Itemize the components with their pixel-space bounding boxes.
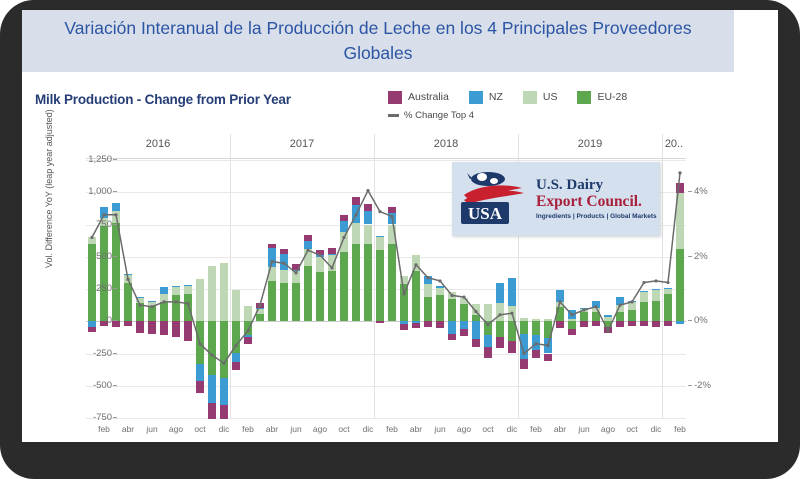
bar-segment bbox=[208, 403, 216, 419]
bar-segment bbox=[124, 275, 132, 283]
bar-segment bbox=[472, 339, 480, 347]
bar-segment bbox=[460, 329, 468, 336]
bar-segment bbox=[124, 321, 132, 326]
bar-segment bbox=[592, 308, 600, 312]
x-axis-tick: jun bbox=[139, 424, 165, 434]
bar-segment bbox=[604, 327, 612, 333]
bar-segment bbox=[328, 255, 336, 270]
bar-segment bbox=[364, 204, 372, 211]
y-axis-tick: -250 bbox=[52, 348, 112, 359]
bar-segment bbox=[340, 232, 348, 251]
slide-title-band: Variación Interanual de la Producción de… bbox=[22, 10, 734, 72]
y2-axis-tick: -2% bbox=[694, 380, 734, 391]
bar-segment bbox=[148, 321, 156, 334]
bar-segment bbox=[556, 302, 564, 307]
x-axis-tick: feb bbox=[667, 424, 693, 434]
x-axis-tick: oct bbox=[475, 424, 501, 434]
legend-item-australia[interactable]: Australia bbox=[388, 91, 449, 104]
bar-segment bbox=[448, 334, 456, 340]
x-axis-tick: abr bbox=[259, 424, 285, 434]
bar-stack[interactable] bbox=[184, 160, 192, 418]
bar-segment bbox=[652, 321, 660, 327]
bar-segment bbox=[628, 301, 636, 302]
bar-segment bbox=[544, 319, 552, 322]
bar-segment bbox=[628, 321, 636, 326]
bar-stack[interactable] bbox=[412, 160, 420, 418]
bar-stack[interactable] bbox=[340, 160, 348, 418]
bar-segment bbox=[520, 321, 528, 334]
bar-segment bbox=[532, 350, 540, 358]
bar-segment bbox=[160, 294, 168, 302]
legend-item-us[interactable]: US bbox=[523, 91, 558, 104]
bar-segment bbox=[580, 321, 588, 327]
bar-segment bbox=[196, 321, 204, 364]
bar-stack[interactable] bbox=[676, 160, 684, 418]
bar-stack[interactable] bbox=[424, 160, 432, 418]
legend-item-nz[interactable]: NZ bbox=[469, 91, 503, 104]
bar-segment bbox=[400, 276, 408, 284]
bar-segment bbox=[436, 321, 444, 327]
bar-segment bbox=[592, 301, 600, 307]
bar-segment bbox=[628, 301, 636, 309]
x-axis-tick: jun bbox=[427, 424, 453, 434]
bar-stack[interactable] bbox=[148, 160, 156, 418]
bar-segment bbox=[316, 255, 324, 256]
bar-segment bbox=[256, 314, 264, 321]
device-frame: Variación Interanual de la Producción de… bbox=[0, 0, 800, 479]
y-axis-tick: 250 bbox=[52, 283, 112, 294]
bar-segment bbox=[184, 285, 192, 286]
bar-segment bbox=[532, 335, 540, 349]
bar-segment bbox=[124, 283, 132, 322]
x-axis-tick: feb bbox=[379, 424, 405, 434]
bar-stack[interactable] bbox=[124, 160, 132, 418]
x-axis-tick: ago bbox=[163, 424, 189, 434]
bar-segment bbox=[304, 241, 312, 249]
bar-segment bbox=[376, 321, 384, 322]
x-axis-tick: feb bbox=[523, 424, 549, 434]
bar-segment bbox=[352, 197, 360, 204]
bar-segment bbox=[460, 304, 468, 321]
bar-segment bbox=[160, 287, 168, 294]
bar-segment bbox=[172, 321, 180, 336]
bar-segment bbox=[532, 319, 540, 321]
bar-segment bbox=[544, 338, 552, 353]
bar-stack[interactable] bbox=[112, 160, 120, 418]
legend-swatch-us bbox=[523, 91, 537, 104]
bar-segment bbox=[148, 301, 156, 302]
bar-segment bbox=[100, 226, 108, 321]
usdec-logo: USA U.S. Dairy Export Council. Ingredien… bbox=[452, 162, 660, 236]
bar-segment bbox=[388, 207, 396, 213]
bar-segment bbox=[88, 237, 96, 244]
bar-stack[interactable] bbox=[280, 160, 288, 418]
bar-segment bbox=[436, 286, 444, 287]
bar-segment bbox=[232, 362, 240, 370]
bar-segment bbox=[520, 359, 528, 369]
bar-segment bbox=[232, 321, 240, 353]
bar-segment bbox=[220, 321, 228, 378]
x-axis-tick: oct bbox=[331, 424, 357, 434]
bar-segment bbox=[616, 321, 624, 327]
bar-segment bbox=[256, 308, 264, 314]
bar-stack[interactable] bbox=[664, 160, 672, 418]
x-axis-tick: abr bbox=[547, 424, 573, 434]
x-axis-tick: oct bbox=[619, 424, 645, 434]
bar-segment bbox=[280, 254, 288, 270]
bar-segment bbox=[616, 297, 624, 305]
bar-segment bbox=[472, 321, 480, 339]
bar-stack[interactable] bbox=[160, 160, 168, 418]
bar-stack[interactable] bbox=[352, 160, 360, 418]
x-axis-tick: feb bbox=[235, 424, 261, 434]
x-axis-tick: ago bbox=[595, 424, 621, 434]
bar-segment bbox=[664, 294, 672, 322]
bar-segment bbox=[604, 315, 612, 316]
bar-segment bbox=[628, 310, 636, 322]
bar-stack[interactable] bbox=[436, 160, 444, 418]
bar-segment bbox=[232, 353, 240, 362]
year-label: 2019 bbox=[518, 138, 662, 150]
bar-segment bbox=[364, 225, 372, 244]
bar-segment bbox=[376, 237, 384, 251]
bar-segment bbox=[436, 288, 444, 296]
bar-segment bbox=[112, 223, 120, 321]
bar-segment bbox=[508, 278, 516, 306]
bar-stack[interactable] bbox=[328, 160, 336, 418]
bar-segment bbox=[556, 321, 564, 327]
bar-segment bbox=[568, 319, 576, 321]
bar-segment bbox=[580, 312, 588, 321]
legend-item-eu28[interactable]: EU-28 bbox=[577, 91, 627, 104]
bar-segment bbox=[244, 337, 252, 344]
x-axis-tick: abr bbox=[115, 424, 141, 434]
bar-segment bbox=[484, 347, 492, 358]
bar-segment bbox=[304, 249, 312, 266]
bar-segment bbox=[220, 405, 228, 419]
bar-stack[interactable] bbox=[196, 160, 204, 418]
bar-segment bbox=[280, 270, 288, 282]
bar-segment bbox=[664, 288, 672, 293]
bar-segment bbox=[676, 321, 684, 324]
bar-segment bbox=[460, 298, 468, 304]
bar-segment bbox=[424, 284, 432, 298]
bar-segment bbox=[364, 211, 372, 225]
x-axis-tick: dic bbox=[355, 424, 381, 434]
chart-legend: Australia NZ US EU-28 bbox=[388, 88, 718, 106]
bar-segment bbox=[340, 252, 348, 322]
bar-stack[interactable] bbox=[136, 160, 144, 418]
bar-segment bbox=[616, 312, 624, 321]
bar-segment bbox=[220, 263, 228, 321]
bar-segment bbox=[496, 321, 504, 336]
legend-label-eu28: EU-28 bbox=[597, 91, 627, 103]
bar-segment bbox=[136, 303, 144, 321]
y-axis-tick: 750 bbox=[52, 219, 112, 230]
bar-segment bbox=[148, 306, 156, 321]
bar-segment bbox=[352, 205, 360, 223]
bar-segment bbox=[676, 249, 684, 321]
bar-segment bbox=[376, 236, 384, 237]
bar-stack[interactable] bbox=[244, 160, 252, 418]
bar-segment bbox=[484, 335, 492, 347]
bar-segment bbox=[196, 364, 204, 381]
y2-axis-tick: 2% bbox=[694, 251, 734, 262]
logo-text-block: U.S. Dairy Export Council. Ingredients |… bbox=[536, 178, 657, 221]
legend-item-pct-change[interactable]: % Change Top 4 bbox=[388, 110, 474, 121]
bar-segment bbox=[640, 291, 648, 292]
y-axis-tick: 1,250 bbox=[52, 154, 112, 165]
bar-segment bbox=[400, 284, 408, 321]
bar-segment bbox=[280, 249, 288, 254]
bar-segment bbox=[136, 297, 144, 298]
bar-segment bbox=[496, 303, 504, 321]
bar-segment bbox=[148, 302, 156, 306]
bar-segment bbox=[652, 290, 660, 301]
bar-segment bbox=[436, 295, 444, 321]
bar-stack[interactable] bbox=[376, 160, 384, 418]
year-label: 2016 bbox=[86, 138, 230, 150]
bar-segment bbox=[136, 321, 144, 333]
bar-stack[interactable] bbox=[388, 160, 396, 418]
bar-segment bbox=[532, 321, 540, 335]
bar-segment bbox=[268, 267, 276, 281]
bar-stack[interactable] bbox=[256, 160, 264, 418]
bar-segment bbox=[316, 250, 324, 256]
bar-segment bbox=[88, 327, 96, 332]
y-axis-tick: -750 bbox=[52, 412, 112, 423]
x-axis-tick: dic bbox=[499, 424, 525, 434]
bar-segment bbox=[208, 266, 216, 321]
bar-segment bbox=[520, 334, 528, 359]
y2-axis-tick: 4% bbox=[694, 186, 734, 197]
bar-segment bbox=[568, 321, 576, 329]
bar-segment bbox=[376, 250, 384, 321]
bar-segment bbox=[424, 321, 432, 327]
bar-segment bbox=[184, 286, 192, 294]
bar-segment bbox=[664, 321, 672, 326]
bar-segment bbox=[172, 286, 180, 287]
bar-segment bbox=[172, 286, 180, 295]
bar-segment bbox=[460, 321, 468, 329]
bar-segment bbox=[208, 375, 216, 403]
bar-segment bbox=[652, 301, 660, 322]
page-title: Variación Interanual de la Producción de… bbox=[33, 16, 723, 67]
bar-segment bbox=[160, 321, 168, 335]
bar-stack[interactable] bbox=[268, 160, 276, 418]
logo-line-2: Export Council. bbox=[536, 193, 657, 211]
bar-segment bbox=[616, 305, 624, 312]
bar-segment bbox=[304, 266, 312, 321]
bar-segment bbox=[400, 324, 408, 330]
x-axis-tick: dic bbox=[211, 424, 237, 434]
bar-segment bbox=[448, 299, 456, 321]
bar-segment bbox=[448, 321, 456, 333]
bar-segment bbox=[328, 271, 336, 321]
legend-label-australia: Australia bbox=[408, 91, 449, 103]
gridline bbox=[86, 418, 686, 419]
bar-segment bbox=[292, 270, 300, 271]
bar-segment bbox=[412, 271, 420, 321]
year-label: 20.. bbox=[662, 138, 686, 150]
bar-segment bbox=[184, 321, 192, 340]
bar-segment bbox=[484, 321, 492, 335]
svg-text:USA: USA bbox=[468, 204, 503, 223]
bar-stack[interactable] bbox=[232, 160, 240, 418]
bar-stack[interactable] bbox=[316, 160, 324, 418]
x-axis-tick: dic bbox=[643, 424, 669, 434]
bar-segment bbox=[244, 306, 252, 321]
bar-stack[interactable] bbox=[208, 160, 216, 418]
y-axis-tick: 500 bbox=[52, 251, 112, 262]
bar-segment bbox=[268, 244, 276, 249]
bar-segment bbox=[676, 193, 684, 249]
bar-segment bbox=[508, 321, 516, 340]
bar-segment bbox=[220, 378, 228, 405]
bar-segment bbox=[652, 289, 660, 290]
bar-segment bbox=[412, 255, 420, 270]
bar-segment bbox=[316, 272, 324, 321]
year-label: 2017 bbox=[230, 138, 374, 150]
legend-label-pct-change: % Change Top 4 bbox=[404, 110, 474, 121]
bar-segment bbox=[592, 312, 600, 322]
bar-stack[interactable] bbox=[172, 160, 180, 418]
bar-segment bbox=[232, 290, 240, 321]
bar-segment bbox=[292, 283, 300, 322]
bar-segment bbox=[544, 354, 552, 361]
x-axis-tick: ago bbox=[307, 424, 333, 434]
bar-segment bbox=[340, 215, 348, 221]
bar-segment bbox=[508, 306, 516, 321]
bar-segment bbox=[388, 213, 396, 225]
bar-segment bbox=[496, 283, 504, 304]
bar-segment bbox=[304, 235, 312, 241]
bar-segment bbox=[292, 264, 300, 269]
bar-segment bbox=[196, 279, 204, 322]
bar-segment bbox=[280, 283, 288, 322]
bar-segment bbox=[328, 248, 336, 254]
legend-swatch-australia bbox=[388, 91, 402, 104]
bar-segment bbox=[676, 183, 684, 193]
bar-segment bbox=[184, 294, 192, 322]
x-axis-tick: oct bbox=[187, 424, 213, 434]
bar-segment bbox=[484, 304, 492, 321]
bar-segment bbox=[352, 223, 360, 244]
bar-segment bbox=[496, 337, 504, 349]
bar-segment bbox=[112, 321, 120, 327]
bar-segment bbox=[328, 254, 336, 255]
bar-segment bbox=[544, 321, 552, 338]
bar-segment bbox=[568, 310, 576, 319]
chart-subtitle: Milk Production - Change from Prior Year bbox=[35, 92, 291, 107]
x-axis-tick: jun bbox=[571, 424, 597, 434]
legend-line-marker bbox=[388, 114, 399, 117]
bar-segment bbox=[508, 341, 516, 353]
bar-segment bbox=[388, 225, 396, 244]
bar-stack[interactable] bbox=[304, 160, 312, 418]
legend-swatch-eu28 bbox=[577, 91, 591, 104]
y2-axis-tick: 0% bbox=[694, 315, 734, 326]
bar-segment bbox=[256, 308, 264, 309]
bar-segment bbox=[352, 244, 360, 321]
bar-stack[interactable] bbox=[220, 160, 228, 418]
bar-segment bbox=[604, 317, 612, 322]
bar-segment bbox=[424, 297, 432, 321]
bar-segment bbox=[388, 244, 396, 321]
bar-segment bbox=[640, 292, 648, 302]
axis-top-rule bbox=[86, 158, 686, 159]
y-axis-tick: 0 bbox=[52, 315, 112, 326]
bar-segment bbox=[100, 207, 108, 218]
x-axis-tick: jun bbox=[283, 424, 309, 434]
bar-segment bbox=[160, 302, 168, 321]
usa-badge-icon: USA bbox=[458, 169, 532, 229]
bar-segment bbox=[136, 298, 144, 303]
legend-label-us: US bbox=[543, 91, 558, 103]
bar-segment bbox=[256, 303, 264, 308]
logo-tagline: Ingredients | Products | Global Markets bbox=[536, 213, 657, 220]
bar-segment bbox=[556, 290, 564, 302]
bar-segment bbox=[364, 244, 372, 321]
bar-segment bbox=[556, 307, 564, 321]
logo-line-1: U.S. Dairy bbox=[536, 178, 657, 193]
y-axis-tick: 1,000 bbox=[52, 186, 112, 197]
legend-label-nz: NZ bbox=[489, 91, 503, 103]
bar-segment bbox=[520, 318, 528, 321]
bar-segment bbox=[472, 304, 480, 315]
bar-segment bbox=[172, 295, 180, 321]
bar-segment bbox=[640, 302, 648, 321]
bar-segment bbox=[640, 321, 648, 326]
bar-segment bbox=[664, 288, 672, 289]
bar-segment bbox=[208, 321, 216, 375]
bar-segment bbox=[112, 211, 120, 223]
bar-segment bbox=[340, 221, 348, 232]
x-axis-tick: feb bbox=[91, 424, 117, 434]
bar-segment bbox=[424, 276, 432, 284]
bar-segment bbox=[196, 381, 204, 394]
bar-segment bbox=[124, 274, 132, 275]
bar-segment bbox=[268, 281, 276, 321]
year-label: 2018 bbox=[374, 138, 518, 150]
bar-segment bbox=[580, 308, 588, 309]
bar-stack[interactable] bbox=[400, 160, 408, 418]
bar-stack[interactable] bbox=[292, 160, 300, 418]
bar-segment bbox=[592, 321, 600, 326]
bar-segment bbox=[412, 323, 420, 329]
bar-segment bbox=[580, 309, 588, 312]
bar-segment bbox=[292, 270, 300, 282]
y-axis-tick: -500 bbox=[52, 380, 112, 391]
bar-stack[interactable] bbox=[364, 160, 372, 418]
bar-segment bbox=[112, 203, 120, 211]
bar-segment bbox=[448, 292, 456, 299]
bar-segment bbox=[268, 248, 276, 267]
legend-swatch-nz bbox=[469, 91, 483, 104]
bar-segment bbox=[316, 257, 324, 272]
bar-segment bbox=[244, 321, 252, 335]
x-axis-tick: abr bbox=[403, 424, 429, 434]
x-axis-tick: ago bbox=[451, 424, 477, 434]
bar-segment bbox=[568, 329, 576, 335]
